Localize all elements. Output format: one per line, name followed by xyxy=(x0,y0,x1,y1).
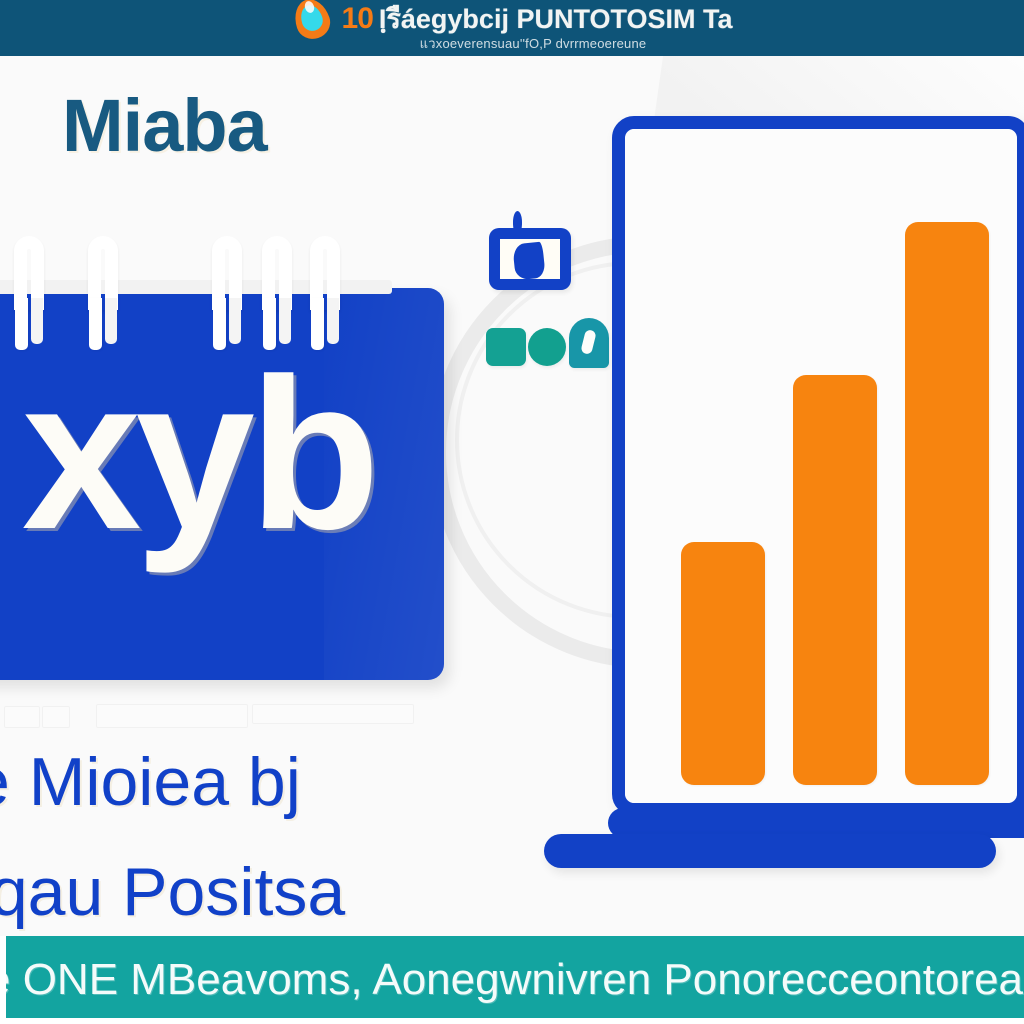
chart-bar[interactable] xyxy=(793,375,877,785)
screenshot-stage: 10 Iฺรืáegybcij PUNTOTOSIM Ta แวxoeveren… xyxy=(0,0,1024,1024)
square-chip-icon[interactable] xyxy=(486,328,526,366)
picture-frame-icon[interactable] xyxy=(489,228,571,290)
header-title: Iฺรืáegybcij PUNTOTOSIM Ta xyxy=(379,5,733,33)
body-area: Miaba xyb xyxy=(0,56,1024,936)
footer-left-edge xyxy=(0,936,6,1024)
laptop-illustration xyxy=(612,116,1024,916)
spiral-ring-icon xyxy=(88,236,118,354)
ghost-ui-strip xyxy=(0,704,430,734)
footer-text: e ONE MBeavoms, Aonegwnivren Ponorecceon… xyxy=(0,956,1024,1004)
header-number: 10 xyxy=(342,4,373,34)
spiral-ring-icon xyxy=(212,236,242,354)
laptop-screen xyxy=(612,116,1024,816)
teardrop-chip-icon[interactable] xyxy=(569,318,609,368)
bar-chart xyxy=(625,129,1017,803)
header-subtitle: แวxoeverensuau''fO,P dvrrmeoereune xyxy=(420,37,647,51)
circle-chip-icon[interactable] xyxy=(528,328,566,366)
spiral-ring-icon xyxy=(262,236,292,354)
spiral-ring-icon xyxy=(310,236,340,354)
footer-band: e ONE MBeavoms, Aonegwnivren Ponorecceon… xyxy=(0,936,1024,1024)
chart-bar[interactable] xyxy=(681,542,765,785)
spiral-ring-icon xyxy=(14,236,44,354)
footer-bottom-edge xyxy=(0,1018,1024,1024)
orange-cyan-droplet-logo-icon xyxy=(292,0,334,40)
card-word: xyb xyxy=(0,346,444,561)
header-title-row: 10 Iฺรืáegybcij PUNTOTOSIM Ta xyxy=(292,3,733,35)
body-text-line-1: e Mioiea bj xyxy=(0,746,301,818)
laptop-base xyxy=(544,834,996,868)
frame-blob-shape xyxy=(512,242,546,281)
header-band: 10 Iฺรืáegybcij PUNTOTOSIM Ta แวxoeveren… xyxy=(0,0,1024,56)
spiral-notepad-card[interactable]: xyb xyxy=(0,236,452,696)
teardrop-slit xyxy=(580,329,596,355)
body-text-line-2: oqau Positsa xyxy=(0,856,345,928)
header-inner: 10 Iฺรืáegybcij PUNTOTOSIM Ta แวxoeveren… xyxy=(0,0,1024,56)
page-title: Miaba xyxy=(62,88,267,164)
chart-bar[interactable] xyxy=(905,222,989,785)
